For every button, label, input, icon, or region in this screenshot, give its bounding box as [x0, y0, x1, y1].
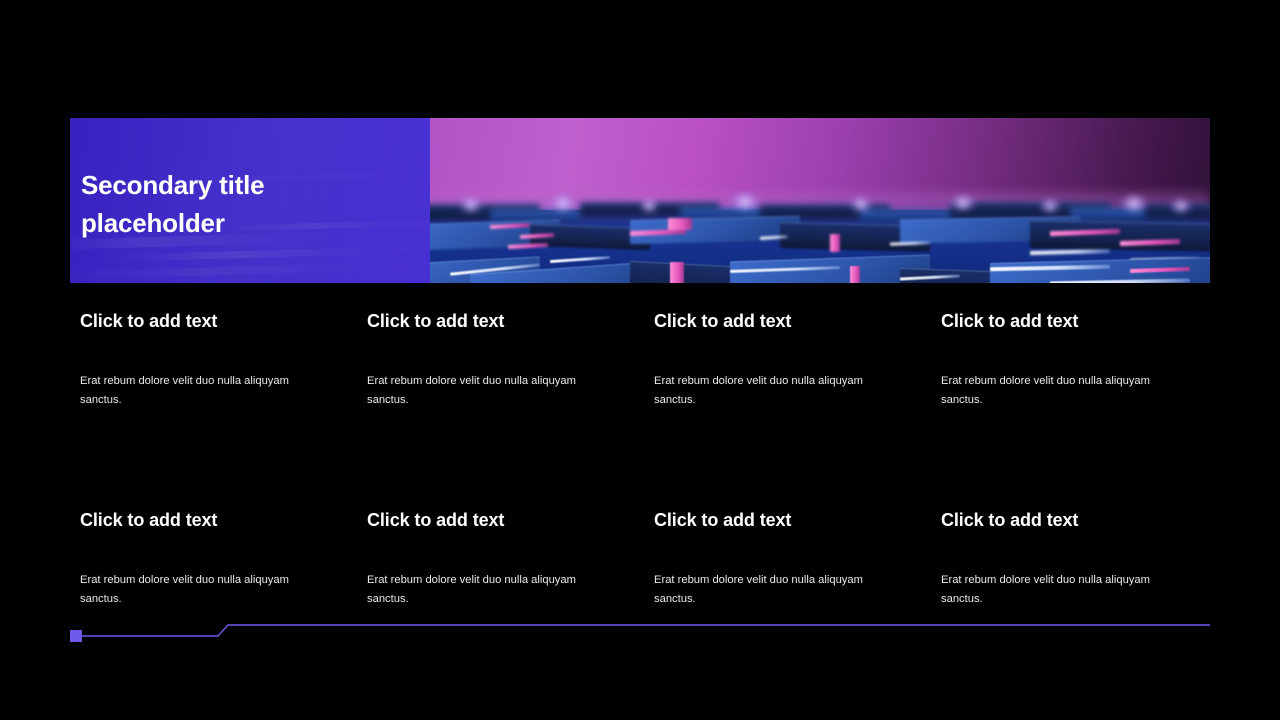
- content-block-4[interactable]: Click to add text Erat rebum dolore veli…: [941, 310, 1228, 410]
- content-block-1[interactable]: Click to add text Erat rebum dolore veli…: [80, 310, 367, 410]
- image-near-layer: [430, 118, 1210, 283]
- content-grid-row: Click to add text Erat rebum dolore veli…: [80, 310, 1210, 410]
- title-card[interactable]: Secondary title placeholder: [70, 118, 430, 283]
- content-block-heading[interactable]: Click to add text: [80, 310, 331, 332]
- content-block-body[interactable]: Erat rebum dolore velit duo nulla aliquy…: [654, 571, 904, 609]
- content-block-5[interactable]: Click to add text Erat rebum dolore veli…: [80, 509, 367, 609]
- header-band: Secondary title placeholder: [70, 118, 1210, 283]
- content-block-body[interactable]: Erat rebum dolore velit duo nulla aliquy…: [80, 571, 330, 609]
- content-block-heading[interactable]: Click to add text: [941, 310, 1192, 332]
- content-block-heading[interactable]: Click to add text: [367, 310, 618, 332]
- secondary-title-placeholder[interactable]: Secondary title placeholder: [81, 166, 411, 242]
- content-block-body[interactable]: Erat rebum dolore velit duo nulla aliquy…: [367, 571, 617, 609]
- content-block-8[interactable]: Click to add text Erat rebum dolore veli…: [941, 509, 1228, 609]
- slide-canvas: Secondary title placeholder: [0, 0, 1280, 720]
- footer-decoration: [70, 618, 1210, 642]
- card-sheen-streak: [70, 260, 430, 280]
- content-grid-row: Click to add text Erat rebum dolore veli…: [80, 509, 1210, 609]
- content-block-body[interactable]: Erat rebum dolore velit duo nulla aliquy…: [941, 571, 1191, 609]
- content-block-body[interactable]: Erat rebum dolore velit duo nulla aliquy…: [367, 372, 617, 410]
- content-block-6[interactable]: Click to add text Erat rebum dolore veli…: [367, 509, 654, 609]
- content-block-2[interactable]: Click to add text Erat rebum dolore veli…: [367, 310, 654, 410]
- content-block-3[interactable]: Click to add text Erat rebum dolore veli…: [654, 310, 941, 410]
- content-block-body[interactable]: Erat rebum dolore velit duo nulla aliquy…: [80, 372, 330, 410]
- content-block-body[interactable]: Erat rebum dolore velit duo nulla aliquy…: [654, 372, 904, 410]
- content-block-heading[interactable]: Click to add text: [654, 310, 905, 332]
- content-block-7[interactable]: Click to add text Erat rebum dolore veli…: [654, 509, 941, 609]
- content-block-heading[interactable]: Click to add text: [654, 509, 905, 531]
- content-block-heading[interactable]: Click to add text: [80, 509, 331, 531]
- card-sheen-streak: [110, 245, 430, 261]
- stepped-rule-icon: [70, 618, 1210, 642]
- abstract-3d-tech-blocks-image: [430, 118, 1210, 283]
- content-block-heading[interactable]: Click to add text: [367, 509, 618, 531]
- content-grid: Click to add text Erat rebum dolore veli…: [80, 310, 1210, 609]
- content-block-heading[interactable]: Click to add text: [941, 509, 1192, 531]
- content-block-body[interactable]: Erat rebum dolore velit duo nulla aliquy…: [941, 372, 1191, 410]
